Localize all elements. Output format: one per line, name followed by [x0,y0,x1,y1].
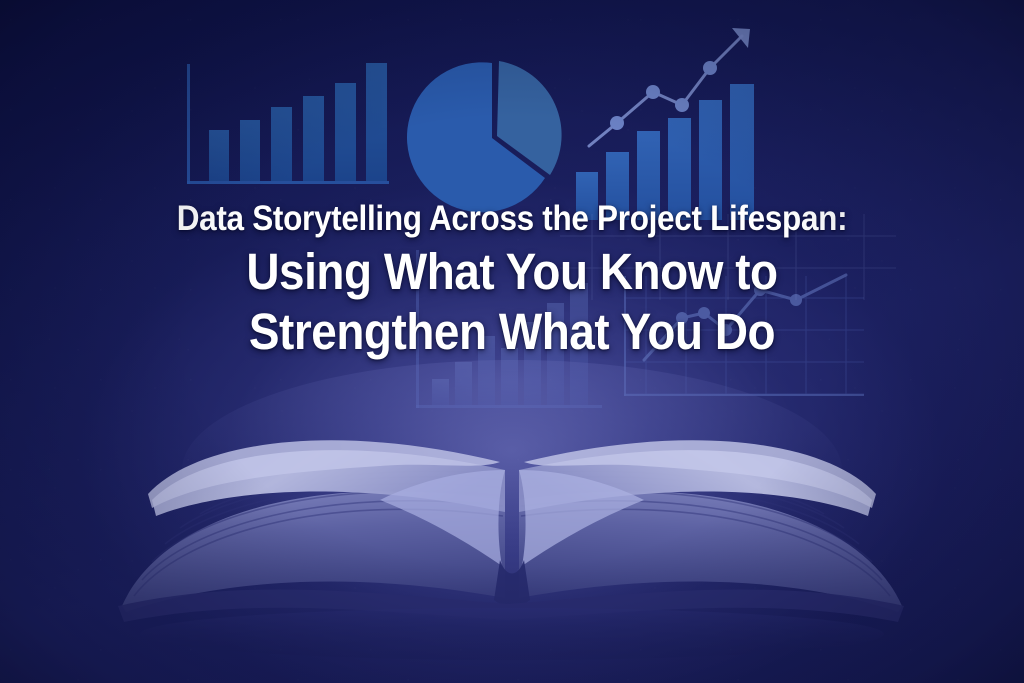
poster-canvas: Data Storytelling Across the Project Lif… [0,0,1024,683]
title-line-3: Strengthen What You Do [51,302,973,362]
title-line-1: Data Storytelling Across the Project Lif… [51,196,973,242]
poster-title: Data Storytelling Across the Project Lif… [0,196,1024,362]
title-line-2: Using What You Know to [51,242,973,302]
